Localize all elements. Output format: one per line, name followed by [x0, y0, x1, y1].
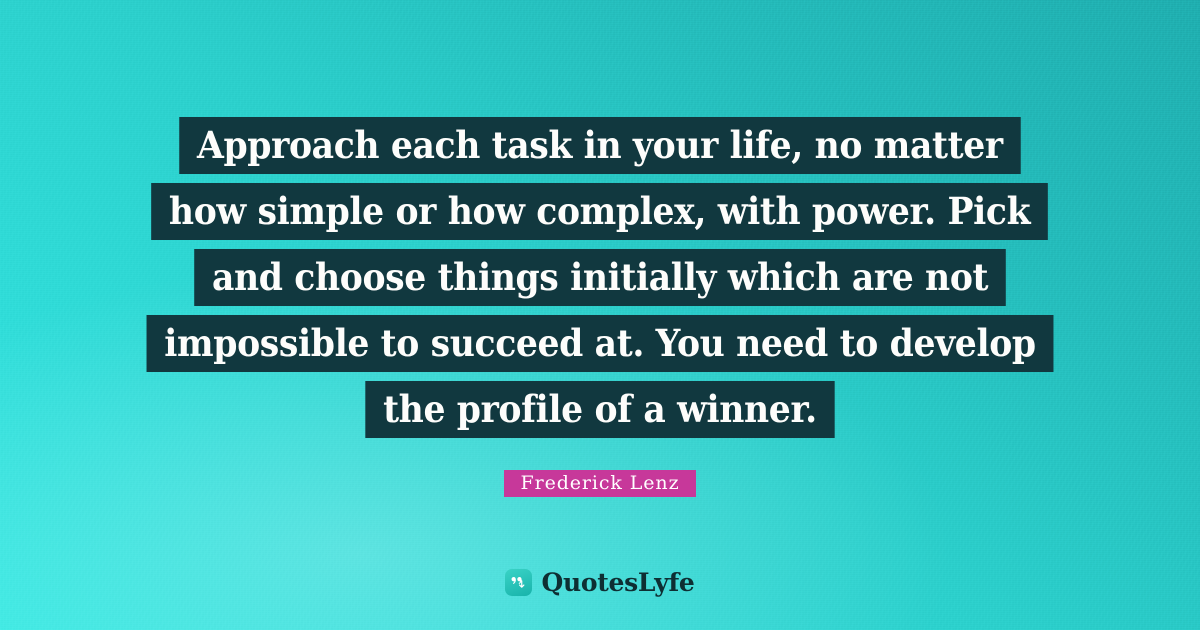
quote-line: how simple or how complex, with power. P… [152, 183, 1049, 240]
quote-line: Approach each task in your life, no matt… [179, 117, 1020, 174]
quote-line: the profile of a winner. [365, 381, 834, 438]
brand-logo[interactable]: QuotesLyfe [505, 569, 694, 596]
quote-line: impossible to succeed at. You need to de… [147, 315, 1054, 372]
author-badge: Frederick Lenz [504, 470, 697, 497]
quote-card: Approach each task in your life, no matt… [0, 0, 1200, 630]
quote-marks-icon [505, 569, 532, 596]
quote-text-block: Approach each task in your life, no matt… [0, 117, 1200, 447]
quote-line: and choose things initially which are no… [194, 249, 1006, 306]
brand-name: QuotesLyfe [541, 569, 694, 596]
